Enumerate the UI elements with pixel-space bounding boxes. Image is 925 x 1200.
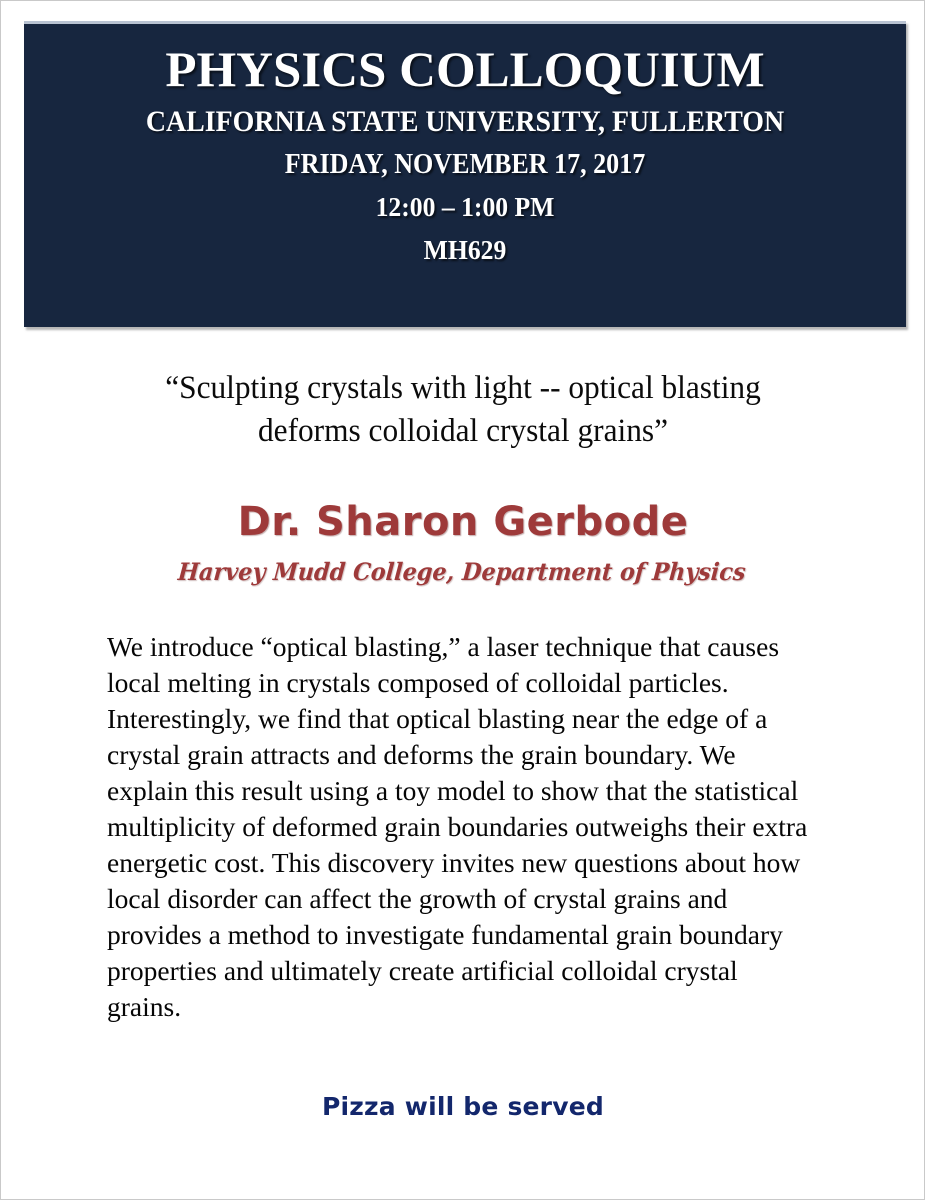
speaker-name: Dr. Sharon Gerbode: [63, 498, 863, 546]
institution-name: CALIFORNIA STATE UNIVERSITY, FULLERTON: [55, 100, 875, 144]
talk-title-line-2: deforms colloidal crystal grains”: [83, 410, 843, 453]
speaker-affiliation: Harvey Mudd College, Department of Physi…: [89, 557, 835, 587]
talk-title-line-1: “Sculpting crystals with light -- optica…: [83, 367, 843, 410]
event-time: 12:00 – 1:00 PM: [46, 186, 884, 229]
header-banner: PHYSICS COLLOQUIUM CALIFORNIA STATE UNIV…: [24, 21, 906, 327]
event-date: FRIDAY, NOVEMBER 17, 2017: [55, 144, 875, 186]
abstract-text: We introduce “optical blasting,” a laser…: [107, 629, 813, 1025]
colloquium-title: PHYSICS COLLOQUIUM: [15, 38, 915, 100]
talk-title: “Sculpting crystals with light -- optica…: [83, 367, 843, 453]
event-room: MH629: [46, 229, 884, 271]
pizza-note: Pizza will be served: [63, 1091, 863, 1123]
flyer-page: PHYSICS COLLOQUIUM CALIFORNIA STATE UNIV…: [0, 0, 925, 1200]
